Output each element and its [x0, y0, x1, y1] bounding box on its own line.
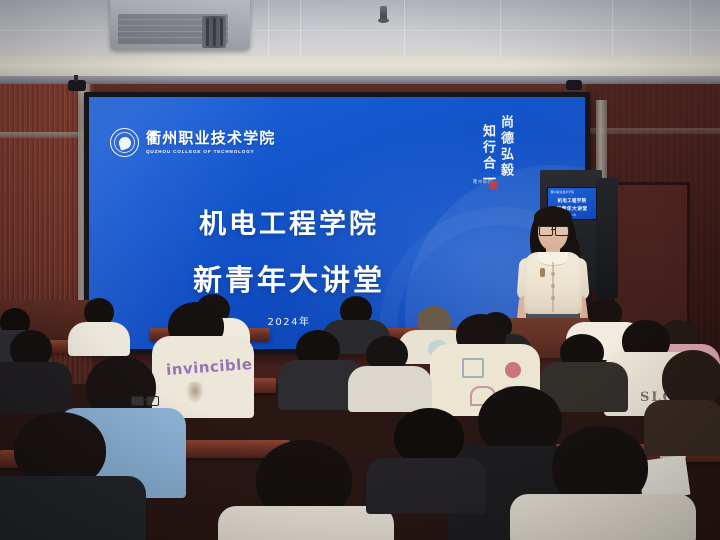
presenter-bangs	[536, 212, 570, 225]
glasses-icon	[130, 396, 158, 404]
monitor-logo: 衢州职业技术学院	[551, 190, 574, 194]
audience-area: invincible SLOW	[0, 300, 720, 540]
shirt-graphic	[186, 382, 204, 404]
presenter-brooch-icon	[540, 268, 545, 277]
glasses-icon	[538, 226, 568, 234]
air-conditioner-vent	[202, 16, 226, 48]
ceiling-soffit	[0, 56, 720, 78]
ceiling-sprinkler	[380, 6, 387, 22]
lecture-hall-photo: 衢州职业技术学院 QUZHOU COLLEGE OF TECHNOLOGY 知行…	[0, 0, 720, 540]
shirt-graphic	[505, 362, 521, 378]
wall-camera-icon	[68, 80, 86, 91]
shirt-graphic	[462, 358, 484, 378]
wall-camera-right-icon	[566, 80, 582, 90]
ceiling	[0, 0, 720, 58]
